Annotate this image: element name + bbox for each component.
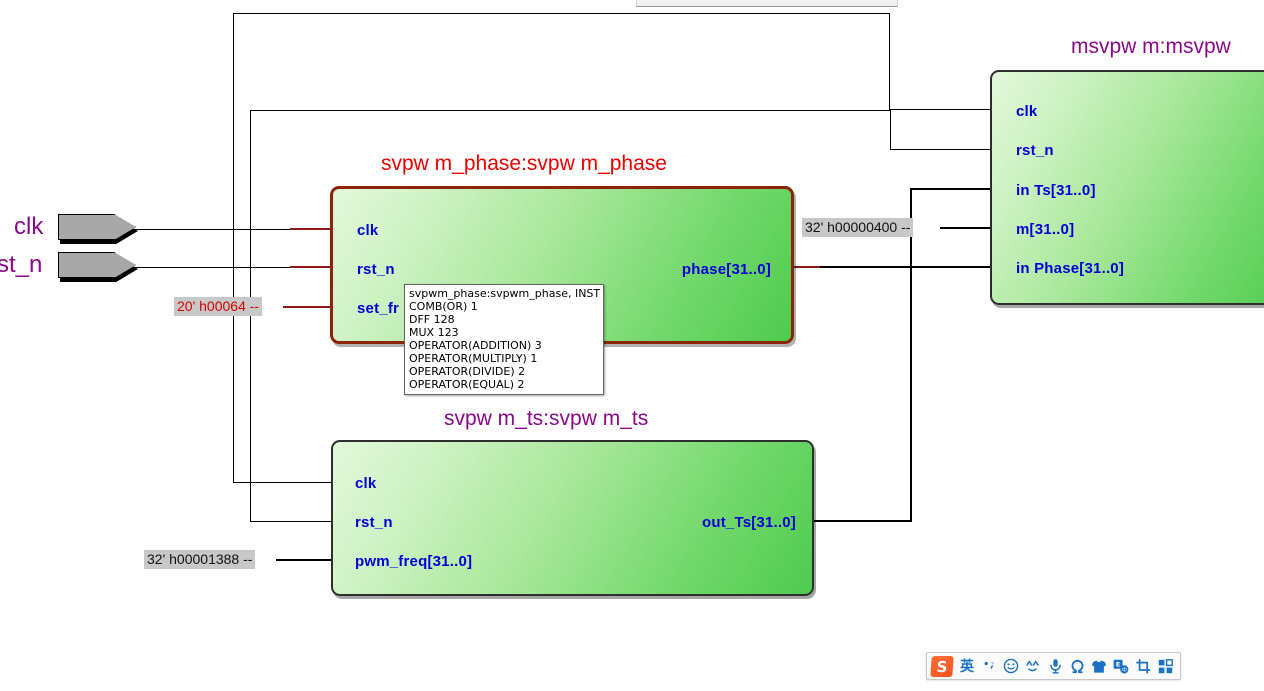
svg-text:中: 中 [1122,665,1127,673]
msvpwm-port-m[interactable]: m[31..0] [1016,221,1074,238]
symbol-omega-icon[interactable] [1066,655,1088,677]
svpwm-phase-port-phase[interactable]: phase[31..0] [682,261,771,278]
svpwm-ts-block[interactable]: clk rst_n pwm_freq[31..0] out_Ts[31..0] [331,440,814,596]
tooltip-header: svpwm_phase:svpwm_phase, INST [409,287,600,300]
msvpwm-title: msvpw m:msvpw [1071,35,1231,59]
wire-clk-pin-stub [133,229,235,230]
pwm-freq-constant-label: 32' h00001388 -- [144,550,255,569]
wire-rstn-to-msvpwm-clk [889,109,990,110]
wire-outts-to-ints [910,188,990,190]
svpwm-phase-port-clk[interactable]: clk [357,222,378,239]
wire-rstn-right-drop [889,13,890,110]
skin-tshirt-icon[interactable] [1088,655,1110,677]
wire-setfreq-constant [283,306,331,308]
svpwm-ts-port-clk[interactable]: clk [355,475,376,492]
sogou-logo-icon[interactable]: S [930,656,953,677]
tooltip-row-4: OPERATOR(MULTIPLY) 1 [409,352,600,365]
wire-rstn-vertical-main [233,13,234,483]
wire-clk-top-run [250,110,891,111]
wire-outts-stub [813,520,912,522]
svg-text:E: E [1116,660,1120,668]
wire-stub-phase-clk [290,228,332,230]
set-freq-constant-label: 20' h00064 -- [174,297,262,316]
wire-clk-vertical-main [250,110,251,522]
wire-phase-to-inphase [820,266,990,268]
svpwm-ts-port-pwm_freq[interactable]: pwm_freq[31..0] [355,553,472,570]
emoji-icon[interactable] [1000,655,1022,677]
toolbox-grid-icon[interactable] [1154,655,1176,677]
tooltip-row-0: COMB(OR) 1 [409,300,600,313]
svpwm-phase-title: svpw m_phase:svpw m_phase [381,152,667,176]
language-mode-icon[interactable]: 英 [956,655,978,677]
partial-window-titlebar [636,0,898,7]
wire-rstn-pin-stub [133,267,235,268]
tooltip-row-3: OPERATOR(ADDITION) 3 [409,339,600,352]
wire-clk-to-ts [250,521,332,522]
microphone-icon[interactable] [1044,655,1066,677]
wire-clk-right-drop [890,110,891,150]
instance-stats-tooltip: svpwm_phase:svpwm_phase, INST COMB(OR) 1… [404,284,604,395]
wire-stub-phase-rstn [290,266,332,268]
tooltip-row-6: OPERATOR(EQUAL) 2 [409,378,600,391]
translate-icon[interactable]: E 中 [1110,655,1132,677]
wire-m-constant [940,227,990,229]
tooltip-row-1: DFF 128 [409,313,600,326]
screenshot-crop-icon[interactable] [1132,655,1154,677]
wire-rstn-top-run [233,13,890,14]
svpwm-ts-port-out_Ts[interactable]: out_Ts[31..0] [702,514,796,531]
msvpwm-port-clk[interactable]: clk [1016,103,1037,120]
msvpwm-port-rst_n[interactable]: rst_n [1016,142,1054,159]
wire-pwmfreq-constant [276,559,333,561]
svpwm-phase-port-rst_n[interactable]: rst_n [357,261,395,278]
tooltip-row-2: MUX 123 [409,326,600,339]
expression-icon[interactable] [1022,655,1044,677]
sogou-ime-toolbar[interactable]: S 英 [926,652,1181,680]
clk-pin-label: clk [14,213,43,241]
wire-outts-vertical [910,188,912,522]
wire-clk-to-msvpwm-rstn [890,149,990,150]
wire-rstn-to-ts [233,482,332,483]
punctuation-icon[interactable] [978,655,1000,677]
m-constant-label: 32' h00000400 -- [802,218,913,237]
msvpwm-block[interactable]: clk rst_n in Ts[31..0] m[31..0] in Phase… [990,70,1264,305]
msvpwm-port-inTs[interactable]: in Ts[31..0] [1016,182,1096,199]
schematic-canvas[interactable]: clk st_n 20' h00064 -- 32' h00000400 -- … [0,0,1264,691]
svpwm-phase-port-set_fr[interactable]: set_fr [357,300,399,317]
svpwm-ts-port-rst_n[interactable]: rst_n [355,514,393,531]
tooltip-row-5: OPERATOR(DIVIDE) 2 [409,365,600,378]
rstn-pin-label: st_n [0,251,42,279]
svpwm-ts-title: svpw m_ts:svpw m_ts [444,407,648,431]
msvpwm-port-inPhase[interactable]: in Phase[31..0] [1016,260,1124,277]
